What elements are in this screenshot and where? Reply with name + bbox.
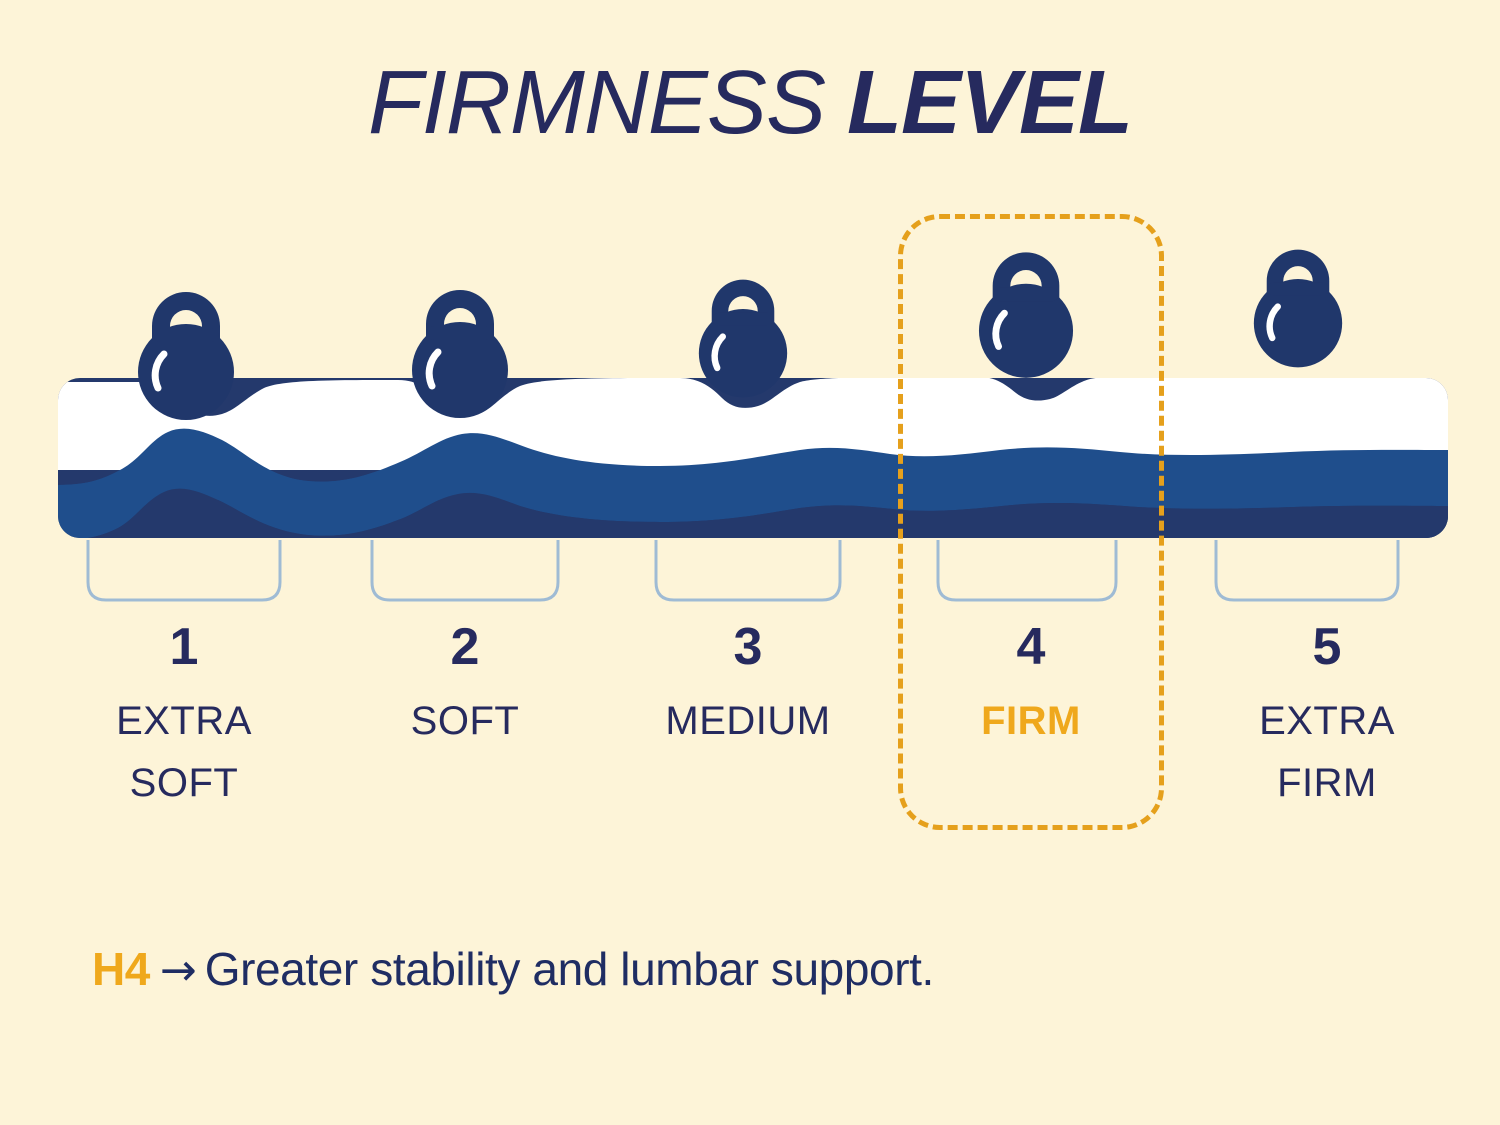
scale-item-5[interactable]: 5 EXTRA FIRM xyxy=(1197,618,1457,814)
kettlebell-icon-5 xyxy=(1254,250,1342,368)
scale-number-2: 2 xyxy=(335,618,595,676)
kettlebell-icon-2 xyxy=(412,290,508,418)
mattress-body xyxy=(58,376,1448,560)
scale-number-4: 4 xyxy=(901,618,1161,676)
mattress-mid-layer-overlay xyxy=(58,429,1448,500)
mattress-base-layer xyxy=(58,378,1448,538)
bracket-1 xyxy=(88,540,280,600)
scale-number-1: 1 xyxy=(54,618,314,676)
scale-label-4: FIRM xyxy=(901,690,1161,752)
bracket-5 xyxy=(1216,540,1398,600)
mattress-mid-layer xyxy=(58,429,1448,538)
page-title-light: FIRMNESS xyxy=(368,53,825,153)
scale-item-4[interactable]: 4 FIRM xyxy=(901,618,1161,752)
bracket-2 xyxy=(372,540,558,600)
scale-label-5: EXTRA FIRM xyxy=(1197,690,1457,814)
scale-label-3: MEDIUM xyxy=(618,690,878,752)
mattress-base-wave xyxy=(58,489,1448,560)
footnote-text: Greater stability and lumbar support. xyxy=(205,943,934,995)
bracket-3 xyxy=(656,540,840,600)
page-title-bold: LEVEL xyxy=(847,53,1132,153)
scale-item-2[interactable]: 2 SOFT xyxy=(335,618,595,752)
scale-number-3: 3 xyxy=(618,618,878,676)
scale-label-1: EXTRA SOFT xyxy=(54,690,314,814)
mattress-white-layer xyxy=(58,376,1448,470)
footnote-code: H4 xyxy=(92,943,150,995)
scale-item-1[interactable]: 1 EXTRA SOFT xyxy=(54,618,314,814)
kettlebell-icon-1 xyxy=(138,292,234,420)
scale-item-3[interactable]: 3 MEDIUM xyxy=(618,618,878,752)
section-brackets xyxy=(88,540,1398,600)
firmness-scale: 1 EXTRA SOFT 2 SOFT 3 MEDIUM 4 FIRM 5 EX… xyxy=(0,618,1500,848)
infographic-canvas: FIRMNESSLEVEL xyxy=(0,0,1500,1125)
scale-number-5: 5 xyxy=(1197,618,1457,676)
scale-label-2: SOFT xyxy=(335,690,595,752)
mattress-base-wave-overlay xyxy=(58,489,1448,545)
arrow-right-icon: → xyxy=(160,945,197,996)
page-title: FIRMNESSLEVEL xyxy=(0,52,1500,155)
footnote: H4→Greater stability and lumbar support. xyxy=(92,942,934,996)
kettlebell-icon-3 xyxy=(699,280,787,398)
